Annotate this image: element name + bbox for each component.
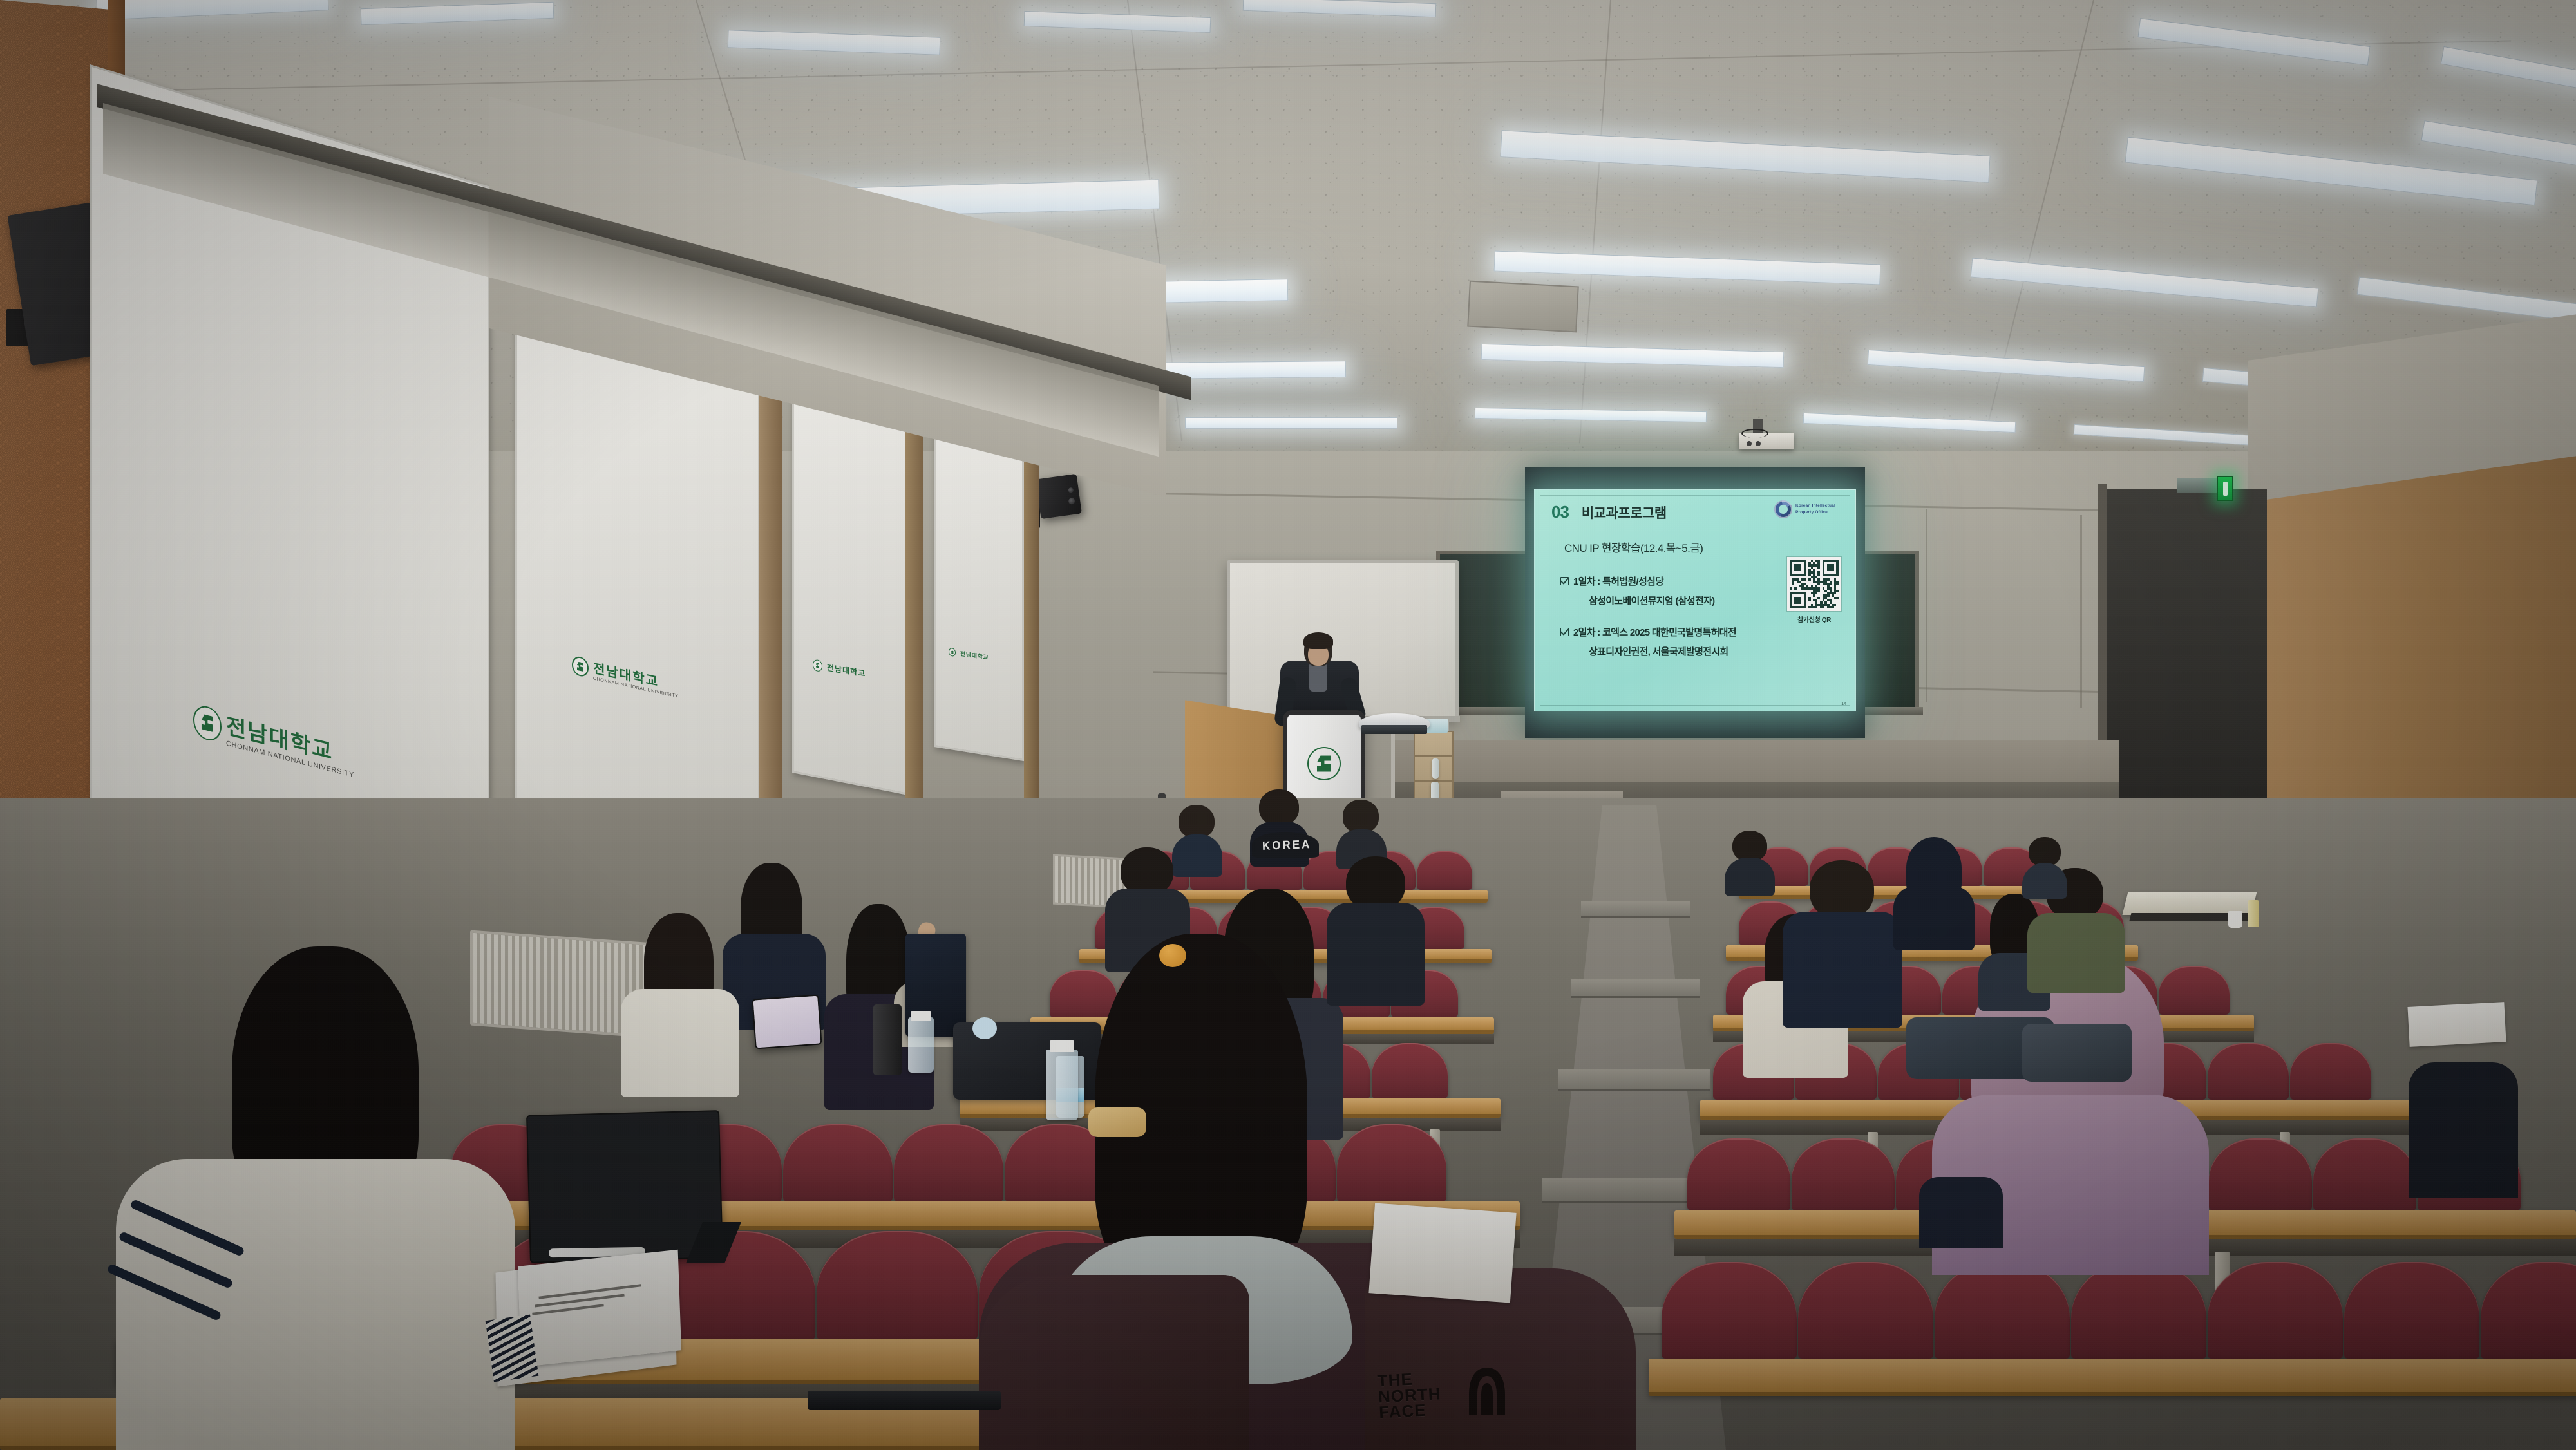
north-face-arc-icon: [1467, 1365, 1507, 1418]
seat: [2071, 1262, 2206, 1359]
qr-module: [1836, 606, 1839, 608]
tablet-case: [526, 1110, 723, 1263]
speaker-tweeter-icon: [1068, 487, 1074, 493]
north-face-line3: FACE: [1379, 1402, 1443, 1421]
rear-bottle: [2248, 900, 2259, 927]
projector-port-icon: [1756, 441, 1761, 446]
speaker-woofer-icon: [1068, 498, 1075, 505]
kipo-logo-line2: Property Office: [1795, 510, 1828, 514]
checkbox-icon: [1560, 577, 1569, 585]
qr-modules: [1790, 560, 1839, 608]
student-torso: [2027, 913, 2125, 993]
seat: [1935, 1262, 2070, 1359]
student-torso: [621, 989, 739, 1097]
exit-sign: [2217, 476, 2233, 501]
wall-panel-seam: [2080, 515, 2082, 708]
cnu-seal-icon: [949, 648, 956, 657]
seat: [1337, 1124, 1446, 1201]
exit-sign-plate: [2177, 478, 2219, 493]
notebook-binding: [486, 1315, 539, 1382]
open-notebook-right-page: [518, 1250, 681, 1367]
seat: [1792, 1138, 1895, 1210]
qr-block: 참가신청 QR: [1787, 557, 1841, 624]
rear-papers: [2407, 1002, 2506, 1047]
podium-side-desk-body: [1361, 725, 1427, 734]
student-torso: [1172, 834, 1222, 877]
thermos: [873, 1004, 902, 1075]
wall-post: [1024, 444, 1039, 833]
north-face-logo-text: THE NORTH FACE: [1377, 1370, 1442, 1421]
student-head: [1343, 800, 1379, 833]
projector-cable: [1741, 429, 1768, 438]
bottle-cap: [911, 1011, 931, 1021]
korea-cap-text: KOREA: [1262, 838, 1312, 854]
aisle-step: [1558, 1069, 1710, 1091]
projector-port-icon: [1747, 441, 1752, 446]
desk: [1649, 1359, 2576, 1396]
water-bottle: [908, 1017, 934, 1073]
slide-page-number: 14: [1841, 702, 1846, 706]
slide-section-number: 03: [1551, 504, 1569, 520]
seat: [2313, 1138, 2416, 1210]
aisle-step: [1571, 979, 1700, 998]
student-tablet: [752, 994, 822, 1049]
wall-speaker: [1036, 474, 1082, 519]
slide-bullet-2: 2일차 : 코엑스 2025 대한민국발명특허대전: [1560, 625, 1844, 639]
presenter-hair: [1303, 632, 1333, 649]
seat: [2209, 1138, 2312, 1210]
whiteboard-left-small-2: [934, 412, 1024, 761]
qr-caption: 참가신청 QR: [1787, 614, 1841, 624]
ceiling-vent: [1467, 281, 1579, 333]
puffer-shoulder-left: [979, 1275, 1249, 1450]
student-torso: [1783, 912, 1902, 1028]
seat: [1050, 970, 1117, 1017]
cnu-seal-icon: [572, 655, 589, 678]
ceiling-light: [1185, 417, 1397, 429]
seat: [2159, 966, 2230, 1015]
presentation-slide: 03 비교과프로그램 CNU IP 현장학습(12.4.목~5.금) 1일차 :…: [1534, 489, 1856, 711]
kipo-logo-line1: Korean Intellectual: [1795, 504, 1835, 508]
seat: [2290, 1043, 2371, 1100]
seat: [817, 1231, 978, 1339]
seat: [1662, 1262, 1797, 1359]
student-torso: [1327, 903, 1425, 1006]
podium-cnu-seal-icon: [1307, 747, 1341, 780]
student-head: [1732, 831, 1767, 862]
wall-panel-seam: [1926, 509, 1927, 702]
seat: [1372, 1043, 1448, 1098]
student-torso: [1725, 858, 1775, 896]
seat: [2208, 1262, 2343, 1359]
slide-bullet-2-sub: 상표디자인권전, 서울국제발명전시회: [1589, 645, 1844, 658]
student-head: [1121, 847, 1173, 895]
bottle-cap: [1050, 1040, 1074, 1052]
cnu-seal-icon: [813, 659, 822, 672]
student-torso: [1919, 1177, 2003, 1248]
orange-fruit: [1159, 944, 1186, 967]
water-bottle: [1046, 1050, 1078, 1120]
draped-jacket: [2022, 1024, 2132, 1082]
rear-cup: [2228, 911, 2242, 928]
seat: [1798, 1262, 1933, 1359]
seat: [894, 1124, 1003, 1201]
student-torso: [116, 1159, 515, 1450]
kipo-mark-icon: [1774, 500, 1792, 518]
student-head: [1810, 860, 1874, 919]
qr-code: [1787, 557, 1841, 611]
wall-post: [905, 386, 923, 833]
slide-subtitle: CNU IP 현장학습(12.4.목~5.금): [1564, 539, 1844, 555]
seat: [2208, 1043, 2289, 1100]
aisle-step: [1581, 901, 1690, 918]
student-head: [1179, 805, 1215, 838]
seat: [2344, 1262, 2479, 1359]
checkbox-icon: [1560, 628, 1569, 636]
seat: [1687, 1138, 1790, 1210]
seat: [783, 1124, 893, 1201]
podium-desk-leg: [1391, 734, 1395, 808]
student-head: [1259, 789, 1299, 825]
cnu-seal-icon: [193, 702, 222, 743]
kipo-logo: Korean Intellectual Property Office: [1774, 499, 1845, 521]
laptop-edge: [808, 1391, 1001, 1410]
shelf-bottle: [1432, 758, 1439, 779]
rear-doorway: [2106, 489, 2267, 850]
ceiling-projector: [1739, 433, 1794, 449]
seat: [1417, 851, 1472, 890]
student-torso: [1893, 886, 1975, 950]
snack-item: [1088, 1107, 1146, 1137]
shelf-divider: [1415, 755, 1452, 757]
student-torso: [2409, 1062, 2518, 1198]
lecture-hall-photo: 전남대학교 CHONNAM NATIONAL UNIVERSITY 전남대학교 …: [0, 0, 2576, 1450]
slide-section-title: 비교과프로그램: [1582, 503, 1667, 522]
bag-charm: [972, 1017, 997, 1039]
handout-paper: [1368, 1203, 1516, 1303]
